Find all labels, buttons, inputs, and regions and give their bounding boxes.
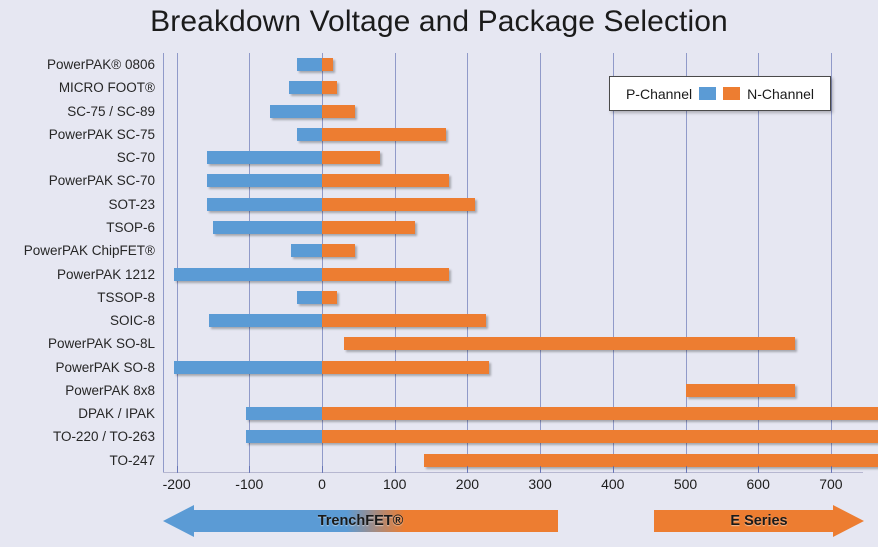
bar-n-channel (322, 81, 337, 94)
chart-row: PowerPAK SC-70 (163, 169, 863, 192)
tick-mark--100 (249, 466, 250, 473)
bar-p-channel (289, 81, 322, 94)
tick-mark-200 (467, 466, 468, 473)
arrow-head-left-icon (163, 505, 194, 537)
eseries-arrow: E Series (654, 510, 864, 532)
chart-row: PowerPAK SO-8L (163, 332, 863, 355)
x-tick-label-600: 600 (728, 476, 788, 492)
bar-p-channel (174, 361, 322, 374)
chart-row: PowerPAK® 0806 (163, 53, 863, 76)
chart-row: PowerPAK 1212 (163, 263, 863, 286)
bar-p-channel (297, 291, 322, 304)
category-label: SOIC-8 (0, 309, 155, 332)
tick-mark-400 (613, 466, 614, 473)
arrow-head-right-icon (833, 505, 864, 537)
category-label: TSSOP-8 (0, 286, 155, 309)
bar-n-channel (424, 454, 878, 467)
bar-n-channel (322, 151, 380, 164)
tick-mark-700 (831, 466, 832, 473)
legend-label-p-channel: P-Channel (626, 86, 692, 102)
tick-mark-0 (322, 466, 323, 473)
bar-p-channel (246, 407, 322, 420)
tick-mark-600 (758, 466, 759, 473)
legend-swatch-p-channel (699, 87, 716, 100)
x-tick-label-800: 800 (874, 476, 878, 492)
bar-n-channel (322, 244, 355, 257)
x-tick-label--200: -200 (147, 476, 207, 492)
bar-n-channel (322, 105, 355, 118)
tick-mark-100 (395, 466, 396, 473)
chart-row: SOT-23 (163, 193, 863, 216)
x-tick-label-100: 100 (365, 476, 425, 492)
trenchfet-label: TrenchFET® (318, 513, 404, 529)
chart-row: PowerPAK ChipFET® (163, 239, 863, 262)
page-title: Breakdown Voltage and Package Selection (0, 0, 878, 44)
tick-mark-300 (540, 466, 541, 473)
bar-n-channel (322, 128, 446, 141)
category-label: SC-70 (0, 146, 155, 169)
trenchfet-arrow: TrenchFET® (163, 510, 558, 532)
legend-swatch-n-channel (723, 87, 740, 100)
category-label: SOT-23 (0, 193, 155, 216)
bar-n-channel (322, 268, 449, 281)
chart-row: DPAK / IPAK (163, 402, 863, 425)
bar-n-channel (322, 314, 486, 327)
bar-p-channel (213, 221, 322, 234)
x-tick-label-400: 400 (583, 476, 643, 492)
chart-row: PowerPAK 8x8 (163, 379, 863, 402)
bar-n-channel (322, 174, 449, 187)
bar-p-channel (297, 58, 322, 71)
category-label: PowerPAK ChipFET® (0, 239, 155, 262)
category-label: PowerPAK SC-70 (0, 169, 155, 192)
plot-area: PowerPAK® 0806MICRO FOOT®SC-75 / SC-89Po… (163, 53, 863, 472)
bar-p-channel (246, 430, 322, 443)
category-label: MICRO FOOT® (0, 76, 155, 99)
x-tick-label-700: 700 (801, 476, 861, 492)
bar-p-channel (270, 105, 322, 118)
bar-p-channel (207, 151, 322, 164)
bar-n-channel (322, 198, 475, 211)
chart-row: SOIC-8 (163, 309, 863, 332)
x-tick-label-500: 500 (656, 476, 716, 492)
category-label: PowerPAK 1212 (0, 263, 155, 286)
tick-mark-500 (686, 466, 687, 473)
chart-legend: P-Channel N-Channel (609, 76, 831, 111)
legend-label-n-channel: N-Channel (747, 86, 814, 102)
category-label: DPAK / IPAK (0, 402, 155, 425)
bar-n-channel (686, 384, 795, 397)
chart-row: PowerPAK SO-8 (163, 356, 863, 379)
bar-n-channel (322, 291, 337, 304)
chart-row: SC-70 (163, 146, 863, 169)
chart-row: TSOP-6 (163, 216, 863, 239)
category-label: PowerPAK 8x8 (0, 379, 155, 402)
x-tick-label--100: -100 (219, 476, 279, 492)
category-label: PowerPAK SO-8L (0, 332, 155, 355)
bar-p-channel (297, 128, 322, 141)
category-label: SC-75 / SC-89 (0, 100, 155, 123)
chart-container: Breakdown Voltage and Package Selection … (0, 0, 878, 547)
eseries-label: E Series (730, 513, 787, 529)
chart-row: TSSOP-8 (163, 286, 863, 309)
footer-arrow-band: TrenchFET® E Series (0, 502, 878, 547)
bar-p-channel (291, 244, 322, 257)
chart-row: PowerPAK SC-75 (163, 123, 863, 146)
category-label: TO-220 / TO-263 (0, 425, 155, 448)
chart-row: TO-220 / TO-263 (163, 425, 863, 448)
category-label: TSOP-6 (0, 216, 155, 239)
bar-p-channel (174, 268, 322, 281)
category-label: PowerPAK SO-8 (0, 356, 155, 379)
bar-n-channel (344, 337, 795, 350)
bar-n-channel (322, 407, 878, 420)
bar-p-channel (209, 314, 322, 327)
bar-n-channel (322, 221, 415, 234)
bar-n-channel (322, 361, 489, 374)
x-tick-label-0: 0 (292, 476, 352, 492)
bar-n-channel (322, 58, 333, 71)
x-tick-label-300: 300 (510, 476, 570, 492)
category-label: TO-247 (0, 449, 155, 472)
bar-p-channel (207, 174, 322, 187)
bar-n-channel (322, 430, 878, 443)
category-label: PowerPAK SC-75 (0, 123, 155, 146)
bar-p-channel (207, 198, 322, 211)
category-label: PowerPAK® 0806 (0, 53, 155, 76)
tick-mark--200 (177, 466, 178, 473)
x-tick-label-200: 200 (437, 476, 497, 492)
